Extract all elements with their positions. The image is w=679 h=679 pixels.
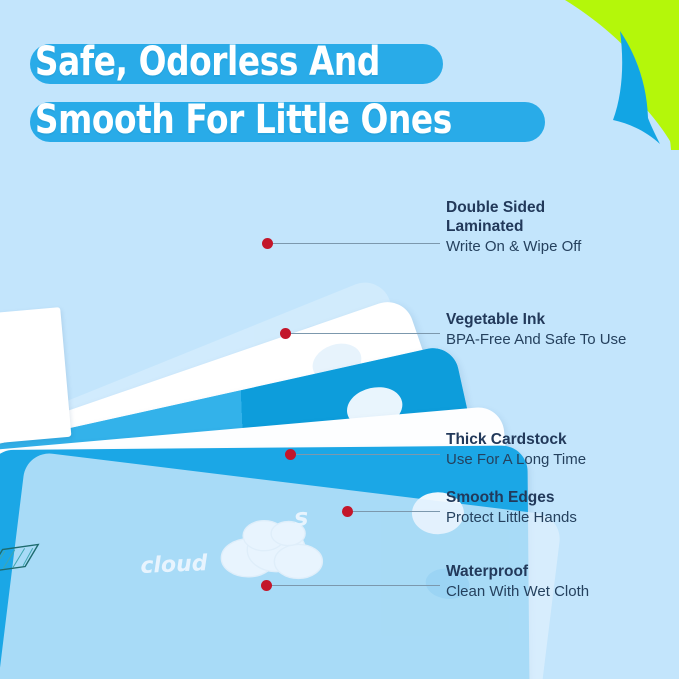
callout-heading-line-2: Laminated [446, 217, 581, 236]
callout-dot [285, 449, 296, 460]
face-doodle-icon [0, 358, 7, 414]
headline-text-2: Smooth For Little Ones [30, 94, 452, 146]
callout-leader-line [353, 511, 440, 512]
callout-leader-line [296, 454, 440, 455]
callout-subtext: Clean With Wet Cloth [446, 582, 589, 602]
callout-heading-line-1: Vegetable Ink [446, 310, 626, 329]
flash-card-stack: white cloud s [0, 150, 500, 679]
callout-heading-line-1: Smooth Edges [446, 488, 577, 507]
headline-text-1: Safe, Odorless And [30, 36, 380, 88]
callout-dot [280, 328, 291, 339]
callout-label: Waterproof Clean With Wet Cloth [446, 562, 589, 602]
headline-line-2: Smooth For Little Ones [30, 94, 544, 146]
callout-subtext: BPA-Free And Safe To Use [446, 330, 626, 350]
callout-label: Thick Cardstock Use For A Long Time [446, 430, 586, 470]
callout-subtext: Write On & Wipe Off [446, 237, 581, 257]
headline: Safe, Odorless And Smooth For Little One… [30, 36, 544, 152]
callout-subtext: Use For A Long Time [446, 450, 586, 470]
face-doodle-card [0, 307, 71, 447]
callout-dot [342, 506, 353, 517]
callout-dot [261, 580, 272, 591]
callout-label: Double Sided Laminated Write On & Wipe O… [446, 198, 581, 257]
callout-leader-line [272, 585, 440, 586]
headline-line-1: Safe, Odorless And [30, 36, 544, 88]
callout-heading-line-1: Waterproof [446, 562, 589, 581]
callout-leader-line [273, 243, 440, 244]
infographic-canvas: Safe, Odorless And Smooth For Little One… [0, 0, 679, 679]
callout-label: Vegetable Ink BPA-Free And Safe To Use [446, 310, 626, 350]
callout-dot [262, 238, 273, 249]
callout-heading-line-1: Thick Cardstock [446, 430, 586, 449]
callout-subtext: Protect Little Hands [446, 508, 577, 528]
callout-leader-line [291, 333, 440, 334]
callout-label: Smooth Edges Protect Little Hands [446, 488, 577, 528]
callout-heading-line-1: Double Sided [446, 198, 581, 217]
